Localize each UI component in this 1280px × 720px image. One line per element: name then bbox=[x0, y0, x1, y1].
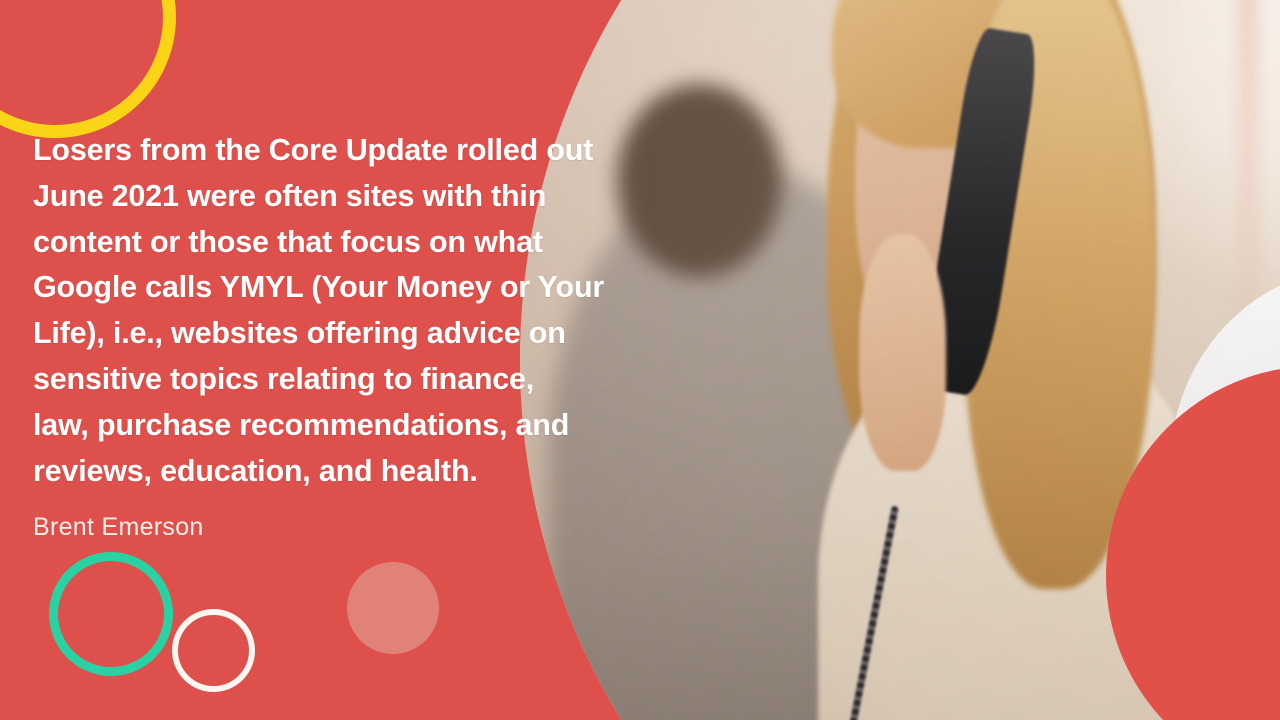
teal-circle-decoration bbox=[49, 552, 173, 676]
yellow-circle-decoration bbox=[0, 0, 176, 138]
pink-circle-decoration bbox=[347, 562, 439, 654]
quote-slide: Losers from the Core Update rolled out J… bbox=[0, 0, 1280, 720]
white-circle-decoration bbox=[172, 609, 255, 692]
quote-text: Losers from the Core Update rolled out J… bbox=[33, 128, 633, 494]
author-name: Brent Emerson bbox=[33, 513, 204, 542]
